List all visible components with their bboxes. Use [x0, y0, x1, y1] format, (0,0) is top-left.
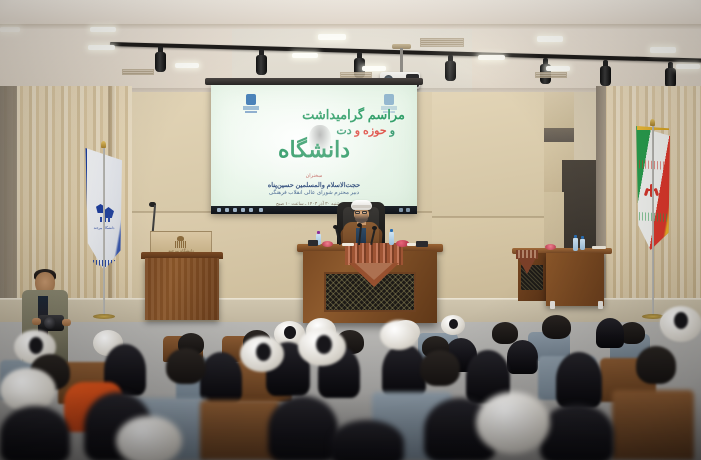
spot-light	[540, 58, 551, 84]
woman-chador	[268, 396, 338, 460]
audience-head	[166, 348, 206, 384]
cleric-turban	[240, 336, 284, 372]
microphone-head	[372, 226, 377, 230]
water-bottle	[580, 239, 585, 250]
ceiling-vent	[122, 69, 154, 75]
spot-light	[256, 49, 267, 75]
side-table	[546, 253, 604, 306]
side-table-foot	[550, 301, 555, 309]
persian-table-runner	[345, 243, 403, 288]
flower-arrangement	[322, 241, 333, 247]
university-emblem-icon	[174, 236, 187, 248]
woman-chador	[596, 318, 624, 348]
flag-base	[93, 314, 115, 319]
linear-ceiling-light	[537, 36, 563, 42]
photographer-hand	[62, 319, 71, 326]
linear-ceiling-light	[0, 27, 20, 32]
left-wall-column	[0, 86, 17, 322]
cleric-turban	[298, 328, 346, 366]
projection-screen-case	[205, 78, 423, 85]
flag-pole	[652, 126, 654, 316]
linear-ceiling-light	[175, 63, 199, 68]
linear-ceiling-light	[676, 64, 700, 69]
flag-finial	[101, 141, 106, 148]
wall-panel-right-upper	[432, 92, 544, 217]
spot-light	[155, 46, 166, 72]
woman-chador	[0, 406, 70, 460]
windows-taskbar[interactable]	[211, 206, 417, 214]
camera-lens-icon	[44, 317, 56, 329]
microphone-head	[357, 223, 362, 227]
wall-seam	[432, 216, 544, 218]
side-table-runner	[516, 250, 538, 278]
cleric-turban	[441, 315, 465, 335]
speaker-podium	[145, 258, 219, 320]
slide-heading-line1: مراسم گرامیداشت	[211, 107, 405, 123]
woman-chador	[200, 352, 242, 404]
woman-chador	[556, 352, 602, 408]
water-bottle	[573, 238, 578, 251]
slide-heading-line3: دانشگاه	[211, 137, 417, 163]
linear-ceiling-light	[318, 34, 346, 40]
cleric-turban	[476, 392, 550, 454]
photographer-hand	[32, 318, 41, 325]
speaker-turban-band	[352, 205, 371, 208]
linear-ceiling-light	[650, 47, 676, 53]
cleric-turban	[660, 306, 701, 342]
linear-ceiling-light	[90, 27, 116, 32]
cleric-turban	[116, 416, 182, 460]
slide-line2-suffix: دت	[336, 125, 351, 137]
flag-finial	[650, 119, 655, 126]
auditorium-seat[interactable]	[612, 390, 694, 460]
audience-head	[636, 346, 676, 384]
speaker-glasses-icon	[355, 211, 368, 214]
woman-chador	[507, 340, 538, 374]
projection-screen: مراسم گرامیداشت و حوزه و دت دانشگاه سخنر…	[211, 85, 417, 214]
audio-device	[308, 240, 318, 246]
woman-chador	[330, 420, 404, 460]
slide-speaker-name: حجت‌الاسلام والمسلمین حسین‌پناه	[211, 181, 417, 189]
cleric-turban	[380, 320, 418, 350]
speaker-beard	[355, 214, 368, 223]
ceiling-vent	[420, 38, 464, 47]
audience-head	[420, 350, 460, 386]
spot-light	[665, 62, 676, 88]
document-papers	[342, 243, 354, 246]
audio-device	[416, 241, 428, 247]
linear-ceiling-light	[478, 55, 505, 60]
slide-heading-line2: و حوزه و دت	[211, 124, 395, 137]
woman-chador	[540, 404, 614, 460]
university-emblem-icon	[96, 204, 114, 224]
audience-head	[492, 322, 518, 344]
wall-recess-dark	[544, 128, 574, 142]
linear-ceiling-light	[88, 45, 115, 50]
side-table-foot	[598, 301, 603, 309]
microphone-head	[333, 225, 338, 229]
wall-panel-right-strip	[544, 92, 574, 128]
spot-light	[445, 55, 456, 81]
slide-line2-accent: حوزه و	[355, 125, 387, 137]
projector-mount-rod	[400, 48, 403, 74]
auditorium-scene: مراسم گرامیداشت و حوزه و دت دانشگاه سخنر…	[0, 0, 701, 460]
cleric-turban	[0, 368, 56, 412]
slide-speaker-title: دبیر محترم شورای عالی انقلاب فرهنگی	[211, 190, 417, 196]
linear-ceiling-light	[362, 66, 386, 71]
document-papers	[592, 246, 606, 249]
slide-line2-prefix: و	[390, 125, 395, 137]
ceiling-soffit	[0, 0, 701, 26]
flag-pole	[103, 148, 105, 316]
linear-ceiling-light	[292, 53, 318, 58]
ceiling-vent	[535, 72, 567, 78]
audience-head	[542, 315, 571, 339]
linear-ceiling-light	[546, 66, 570, 71]
spot-light	[600, 60, 611, 86]
document-papers	[407, 243, 416, 246]
flower-arrangement	[545, 244, 556, 250]
water-bottle	[389, 232, 394, 245]
slide-speaker-label: سخنران	[211, 173, 417, 179]
